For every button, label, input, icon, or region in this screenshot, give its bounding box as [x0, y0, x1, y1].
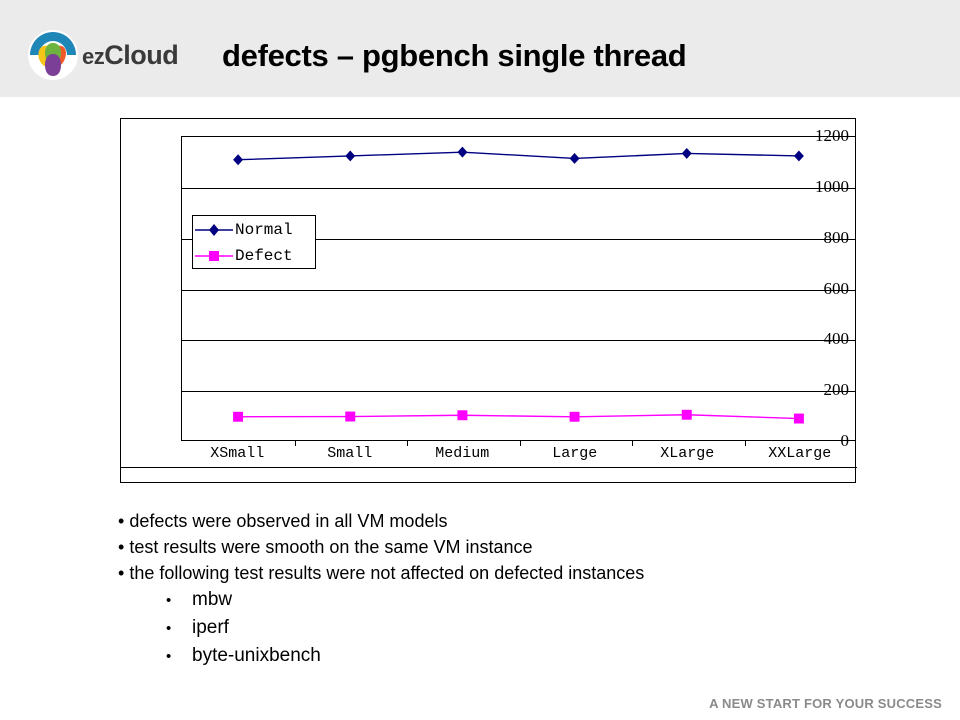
series-line-defect	[238, 415, 799, 419]
sub-bullet-marker-icon: •	[166, 643, 192, 670]
bullet-item: •the following test results were not aff…	[118, 560, 918, 586]
sub-bullet-item: •iperf	[118, 614, 918, 642]
plot-area	[181, 136, 856, 441]
bullet-list-level1: •defects were observed in all VM models•…	[118, 508, 918, 586]
sub-bullet-marker-icon: •	[166, 615, 192, 642]
sub-bullet-item: •byte-unixbench	[118, 642, 918, 670]
data-point-defect-0	[233, 412, 243, 422]
sub-bullet-text: iperf	[192, 617, 229, 638]
data-point-defect-2	[457, 410, 467, 420]
x-axis-label: Medium	[406, 445, 519, 462]
bullet-item: •defects were observed in all VM models	[118, 508, 918, 534]
sub-bullet-text: byte-unixbench	[192, 645, 321, 666]
x-axis-label: XSmall	[181, 445, 294, 462]
ezcloud-logo-icon	[27, 29, 79, 81]
x-axis-label: XLarge	[631, 445, 744, 462]
y-axis-label: 1000	[797, 177, 855, 197]
legend-label-defect: Defect	[235, 248, 293, 264]
y-axis-label: 200	[797, 380, 855, 400]
series-line-normal	[238, 152, 799, 160]
legend-swatch-normal	[193, 220, 235, 240]
x-axis-label: Large	[519, 445, 632, 462]
y-axis-label: 600	[797, 279, 855, 299]
logo-wordmark-prefix: ez	[82, 44, 104, 69]
data-point-normal-5	[794, 150, 804, 161]
y-axis-label: 800	[797, 228, 855, 248]
data-point-normal-3	[570, 153, 580, 164]
bullet-marker-icon: •	[118, 563, 124, 583]
legend-label-normal: Normal	[235, 222, 293, 238]
y-axis-label: 1200	[797, 126, 855, 146]
header-band: ezCloud defects – pgbench single thread	[0, 0, 960, 97]
data-point-normal-2	[457, 147, 467, 158]
y-axis-label: 400	[797, 329, 855, 349]
bullet-text: the following test results were not affe…	[129, 563, 644, 583]
sub-bullet-text: mbw	[192, 589, 232, 610]
data-point-defect-3	[570, 412, 580, 422]
bullet-marker-icon: •	[118, 511, 124, 531]
x-axis-label: XXLarge	[744, 445, 857, 462]
bullet-text: defects were observed in all VM models	[129, 511, 447, 531]
sub-bullet-item: •mbw	[118, 586, 918, 614]
bullet-marker-icon: •	[118, 537, 124, 557]
legend-swatch-defect	[193, 246, 235, 266]
page-title: defects – pgbench single thread	[222, 38, 686, 74]
sub-bullet-marker-icon: •	[166, 587, 192, 614]
footer-slogan: A NEW START FOR YOUR SUCCESS	[709, 696, 942, 711]
data-point-normal-0	[233, 154, 243, 165]
data-point-defect-1	[345, 412, 355, 422]
bullet-text: test results were smooth on the same VM …	[129, 537, 532, 557]
data-point-defect-5	[794, 414, 804, 424]
legend-entry-defect: Defect	[193, 242, 315, 269]
data-point-normal-1	[345, 150, 355, 161]
logo-wordmark: ezCloud	[82, 40, 178, 71]
bullet-list-level2: •mbw•iperf•byte-unixbench	[118, 586, 918, 670]
series-layer	[182, 137, 855, 440]
chart-frame: 120010008006004002000 XSmallSmallMediumL…	[120, 118, 856, 483]
legend-entry-normal: Normal	[193, 216, 315, 243]
logo-wordmark-suffix: Cloud	[104, 40, 178, 70]
data-point-normal-4	[682, 148, 692, 159]
data-point-defect-4	[682, 410, 692, 420]
x-axis-baseline	[121, 467, 857, 468]
chart-legend: Normal Defect	[192, 215, 316, 269]
bullet-item: •test results were smooth on the same VM…	[118, 534, 918, 560]
x-axis-label: Small	[294, 445, 407, 462]
bullet-list: •defects were observed in all VM models•…	[118, 508, 918, 670]
